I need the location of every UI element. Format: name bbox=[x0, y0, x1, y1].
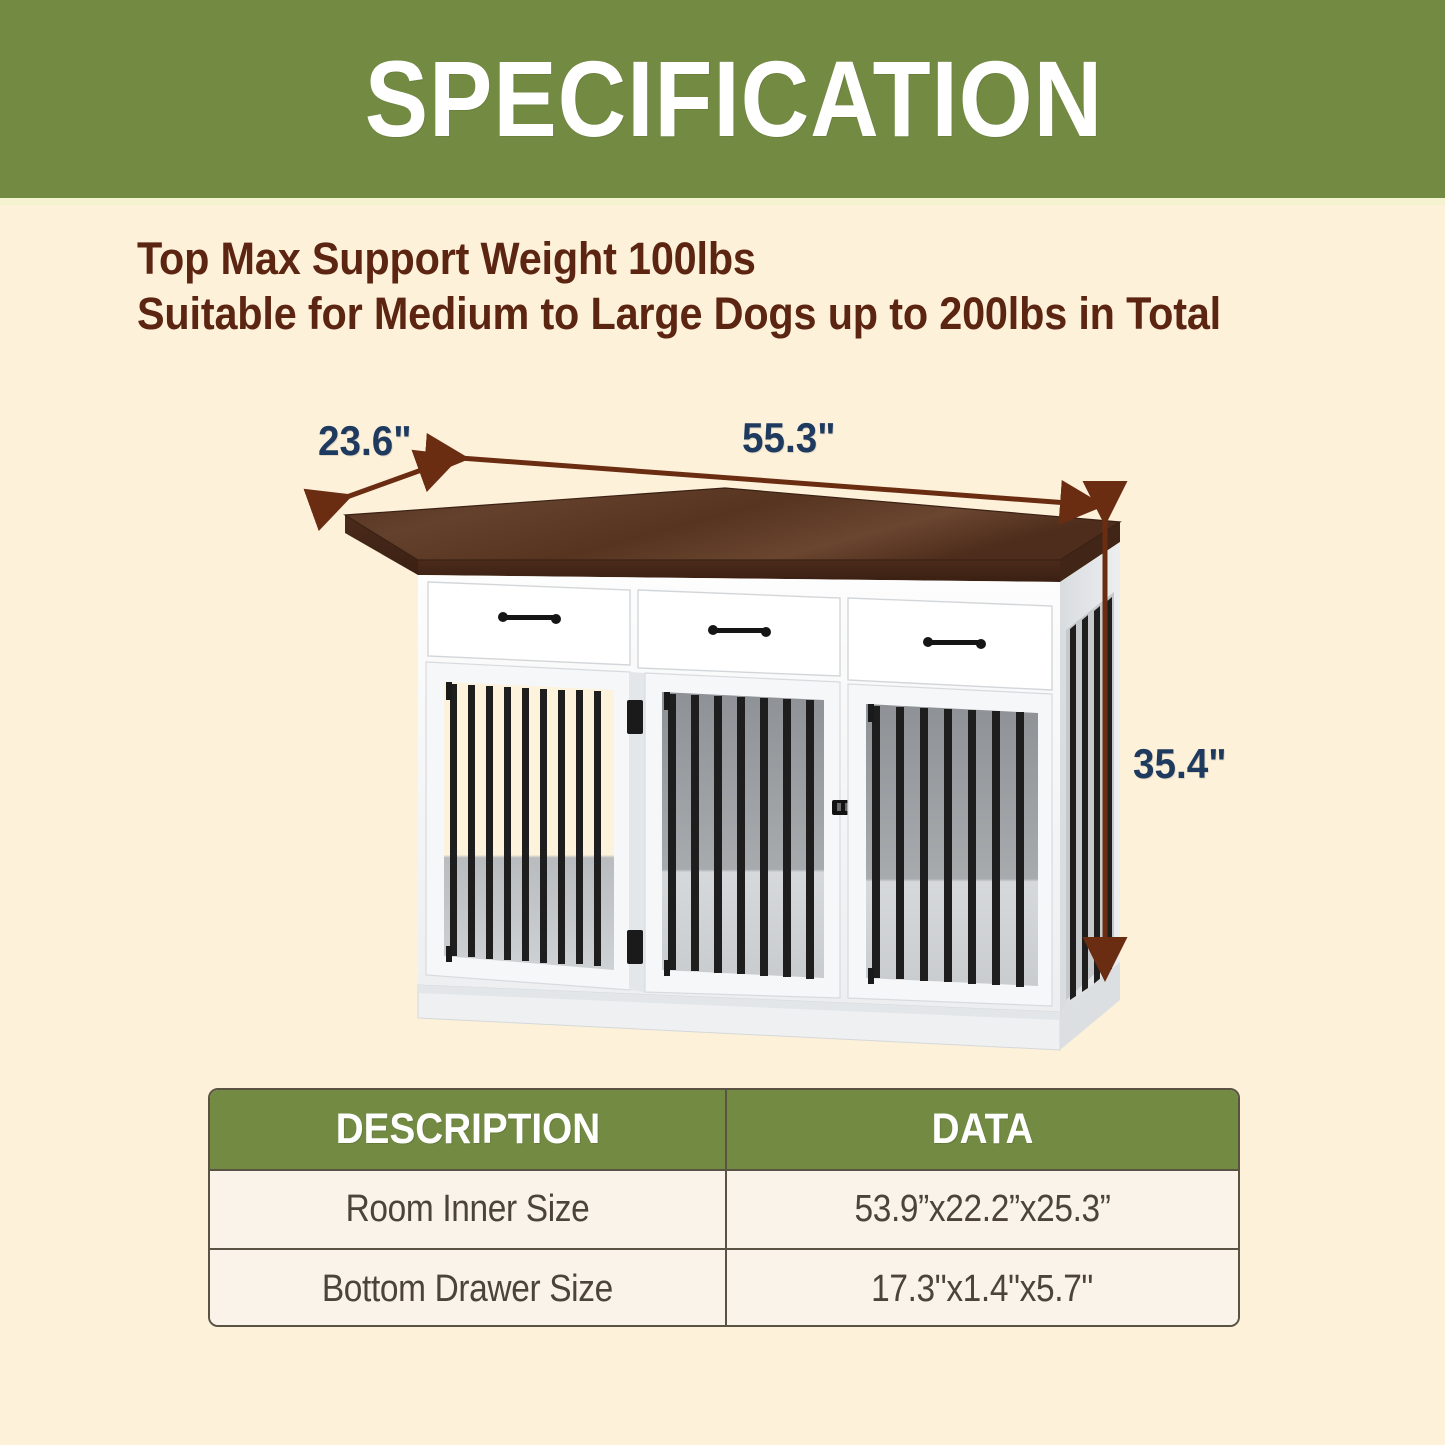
hinge-top bbox=[627, 700, 643, 734]
dimension-label-depth: 23.6" bbox=[318, 417, 412, 465]
page-header: SPECIFICATION bbox=[0, 0, 1445, 198]
hinge-bottom bbox=[627, 930, 643, 964]
header-underline bbox=[0, 198, 1445, 205]
page-title: SPECIFICATION bbox=[342, 45, 1103, 153]
dimension-label-height: 35.4" bbox=[1133, 740, 1227, 788]
column-header-data: DATA bbox=[726, 1090, 1238, 1170]
wood-top-panel bbox=[345, 488, 1120, 582]
drawer-1 bbox=[428, 582, 630, 665]
table-row: Room Inner Size 53.9”x22.2”x25.3” bbox=[210, 1170, 1238, 1249]
table-row: Bottom Drawer Size 17.3"x1.4"x5.7" bbox=[210, 1249, 1238, 1327]
subtitle-line-1: Top Max Support Weight 100lbs bbox=[137, 232, 1259, 287]
subtitle-block: Top Max Support Weight 100lbs Suitable f… bbox=[137, 232, 1357, 342]
subtitle-line-2: Suitable for Medium to Large Dogs up to … bbox=[137, 287, 1259, 342]
drawer-2 bbox=[638, 590, 840, 676]
specification-table: DESCRIPTION DATA Room Inner Size 53.9”x2… bbox=[208, 1088, 1240, 1327]
center-crate-door bbox=[645, 673, 840, 998]
dimension-label-width: 55.3" bbox=[742, 414, 836, 462]
cell-description: Bottom Drawer Size bbox=[210, 1249, 726, 1327]
left-crate-door bbox=[426, 662, 630, 990]
product-illustration bbox=[300, 400, 1160, 1060]
right-side-slats bbox=[1066, 592, 1114, 1000]
cell-description: Room Inner Size bbox=[210, 1170, 726, 1249]
column-header-description: DESCRIPTION bbox=[210, 1090, 726, 1170]
cell-data: 53.9”x22.2”x25.3” bbox=[726, 1170, 1238, 1249]
cell-data: 17.3"x1.4"x5.7" bbox=[726, 1249, 1238, 1327]
table-header-row: DESCRIPTION DATA bbox=[210, 1090, 1238, 1170]
right-crate-panel bbox=[848, 684, 1052, 1006]
drawer-3 bbox=[848, 598, 1052, 690]
